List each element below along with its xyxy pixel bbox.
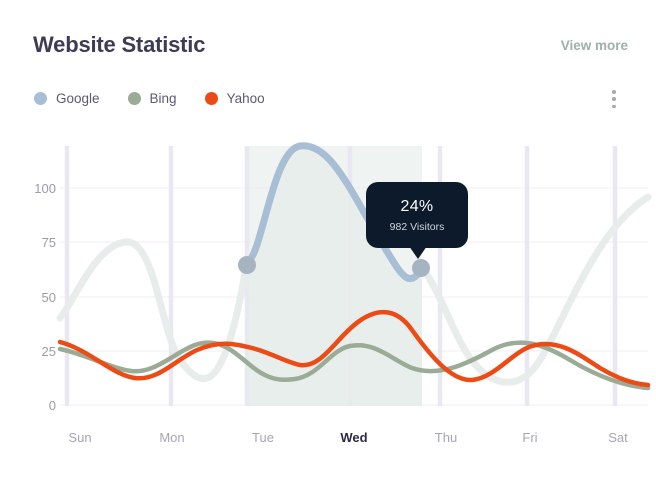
tooltip: 24% 982 Visitors bbox=[366, 182, 468, 248]
x-tick-label-wed[interactable]: Wed bbox=[319, 430, 389, 445]
data-point-marker-tue[interactable] bbox=[238, 256, 256, 274]
tooltip-visitors: 982 Visitors bbox=[390, 221, 445, 233]
y-tick-label-0: 0 bbox=[14, 398, 56, 413]
y-tick-label-50: 50 bbox=[14, 290, 56, 305]
x-tick-label-fri[interactable]: Fri bbox=[495, 430, 565, 445]
y-tick-label-100: 100 bbox=[14, 181, 56, 196]
tooltip-percent: 24% bbox=[401, 198, 434, 216]
x-tick-label-tue[interactable]: Tue bbox=[228, 430, 298, 445]
website-statistic-card: Website Statistic View more Google Bing … bbox=[0, 0, 656, 477]
x-tick-label-sat[interactable]: Sat bbox=[583, 430, 653, 445]
x-tick-label-sun[interactable]: Sun bbox=[45, 430, 115, 445]
x-tick-label-mon[interactable]: Mon bbox=[137, 430, 207, 445]
y-tick-label-75: 75 bbox=[14, 235, 56, 250]
y-tick-label-25: 25 bbox=[14, 344, 56, 359]
data-point-marker-selected[interactable] bbox=[412, 259, 430, 277]
chart-canvas bbox=[0, 0, 656, 477]
x-tick-label-thu[interactable]: Thu bbox=[411, 430, 481, 445]
line-chart: 100 75 50 25 0 Sun Mon Tue Wed Thu Fri S… bbox=[0, 0, 656, 477]
